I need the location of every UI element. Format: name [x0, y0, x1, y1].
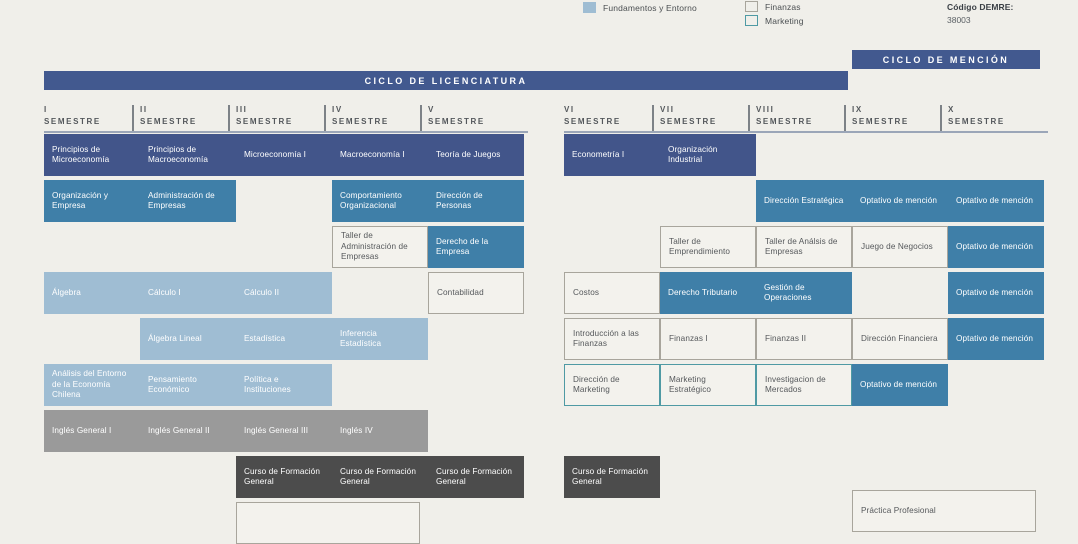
- legend-swatch-mkt-icon: [745, 15, 758, 26]
- course-label: Cálculo I: [148, 288, 181, 299]
- course-microeconomia-i[interactable]: Microeconomía I: [236, 134, 332, 176]
- semester-roman: II: [140, 104, 236, 116]
- course-optativo-de-mencion-ix-1[interactable]: Optativo de mención: [852, 180, 948, 222]
- course-direccion-financiera[interactable]: Dirección Financiera: [852, 318, 948, 360]
- course-practica-profesional[interactable]: Práctica Profesional: [852, 490, 1036, 532]
- course-algebra-lineal[interactable]: Álgebra Lineal: [140, 318, 236, 360]
- course-juego-de-negocios[interactable]: Juego de Negocios: [852, 226, 948, 268]
- semester-divider: [844, 105, 846, 131]
- course-label: Marketing Estratégico: [669, 375, 747, 396]
- semester-header-viii: VIIISEMESTRE: [756, 104, 852, 128]
- course-label: Gestión de Operaciones: [764, 283, 844, 304]
- course-label: Macroeconomía I: [340, 150, 405, 161]
- course-taller-de-analis-de-empresas[interactable]: Taller de Análsis de Empresas: [756, 226, 852, 268]
- course-label: Juego de Negocios: [861, 242, 933, 253]
- course-finanzas-i[interactable]: Finanzas I: [660, 318, 756, 360]
- course-administracion-de-empresas[interactable]: Administración de Empresas: [140, 180, 236, 222]
- course-label: Costos: [573, 288, 599, 299]
- demre-code-block: Código DEMRE:38003: [947, 2, 1013, 25]
- course-organizacion-y-empresa[interactable]: Organización y Empresa: [44, 180, 140, 222]
- course-direccion-de-marketing[interactable]: Dirección de Marketing: [564, 364, 660, 406]
- course-curso-de-formacion-general-v[interactable]: Curso de Formación General: [428, 456, 524, 498]
- course-label: Derecho de la Empresa: [436, 237, 516, 258]
- course-macroeconomia-i[interactable]: Macroeconomía I: [332, 134, 428, 176]
- semester-roman: IX: [852, 104, 948, 116]
- course-label: Administración de Empresas: [148, 191, 228, 212]
- course-label: Dirección de Marketing: [573, 375, 651, 396]
- semester-roman: VIII: [756, 104, 852, 116]
- semester-header-iii: IIISEMESTRE: [236, 104, 332, 128]
- semester-header-ix: IXSEMESTRE: [852, 104, 948, 128]
- legend-swatch-open-icon: [745, 1, 758, 12]
- course-label: Curso de Formación General: [244, 467, 324, 488]
- course-label: Principios de Macroeconomía: [148, 145, 228, 166]
- course-label: Álgebra: [52, 288, 81, 299]
- course-label: Curso de Formación General: [572, 467, 652, 488]
- course-teoria-de-juegos[interactable]: Teoría de Juegos: [428, 134, 524, 176]
- legend-item-open: Finanzas: [745, 1, 801, 12]
- course-label: Teoría de Juegos: [436, 150, 500, 161]
- semester-word: SEMESTRE: [44, 116, 140, 128]
- course-label: Optativo de mención: [956, 242, 1033, 253]
- course-contabilidad[interactable]: Contabilidad: [428, 272, 524, 314]
- cycle-banner-label: CICLO DE LICENCIATURA: [365, 76, 528, 86]
- course-label: Inglés General II: [148, 426, 210, 437]
- course-calculo-i[interactable]: Cálculo I: [140, 272, 236, 314]
- course-label: Derecho Tributario: [668, 288, 737, 299]
- semester-word: SEMESTRE: [140, 116, 236, 128]
- semester-divider: [652, 105, 654, 131]
- course-label: Optativo de mención: [956, 288, 1033, 299]
- semester-roman: V: [428, 104, 524, 116]
- semester-header-iv: IVSEMESTRE: [332, 104, 428, 128]
- course-calculo-ii[interactable]: Cálculo II: [236, 272, 332, 314]
- course-organizacion-industrial[interactable]: Organización Industrial: [660, 134, 756, 176]
- course-label: Curso de Formación General: [436, 467, 516, 488]
- course-investigacion-de-mercados[interactable]: Investigacion de Mercados: [756, 364, 852, 406]
- semester-divider: [132, 105, 134, 131]
- course-label: Taller de Emprendimiento: [669, 237, 747, 258]
- legend-item-light: Fundamentos y Entorno: [583, 2, 697, 13]
- demre-code-value: 38003: [947, 15, 1013, 25]
- course-politica-e-instituciones[interactable]: Política e Instituciones: [236, 364, 332, 406]
- legend-item-mkt: Marketing: [745, 15, 804, 26]
- course-label: Inglés General I: [52, 426, 111, 437]
- course-label: Taller de Administración de Empresas: [341, 231, 419, 263]
- course-algebra[interactable]: Álgebra: [44, 272, 140, 314]
- course-label: Principios de Microeconomía: [52, 145, 132, 166]
- course-principios-de-microeconomia[interactable]: Principios de Microeconomía: [44, 134, 140, 176]
- course-gestion-de-operaciones[interactable]: Gestión de Operaciones: [756, 272, 852, 314]
- course-marketing-estrategico[interactable]: Marketing Estratégico: [660, 364, 756, 406]
- semester-header-rule: [564, 131, 1048, 133]
- semester-word: SEMESTRE: [948, 116, 1044, 128]
- semester-roman: I: [44, 104, 140, 116]
- semester-header-x: XSEMESTRE: [948, 104, 1044, 128]
- course-estadistica[interactable]: Estadística: [236, 318, 332, 360]
- semester-word: SEMESTRE: [564, 116, 660, 128]
- course-ingles-general-ii[interactable]: Inglés General II: [140, 410, 236, 452]
- course-curso-de-formacion-general-iv[interactable]: Curso de Formación General: [332, 456, 428, 498]
- legend-label: Fundamentos y Entorno: [603, 3, 697, 13]
- course-label: Inglés IV: [340, 426, 373, 437]
- course-label: Política e Instituciones: [244, 375, 324, 396]
- course-label: Dirección Estratégica: [764, 196, 843, 207]
- semester-roman: IV: [332, 104, 428, 116]
- course-label: Organización y Empresa: [52, 191, 132, 212]
- legend-label: Marketing: [765, 16, 804, 26]
- course-ingles-iv[interactable]: Inglés IV: [332, 410, 428, 452]
- course-optativo-de-mencion-x-3[interactable]: Optativo de mención: [948, 272, 1044, 314]
- course-label: Curso de Formación General: [340, 467, 420, 488]
- semester-header-vii: VIISEMESTRE: [660, 104, 756, 128]
- course-optativo-de-mencion-x-4[interactable]: Optativo de mención: [948, 318, 1044, 360]
- course-label: Análisis del Entorno de la Economía Chil…: [52, 369, 132, 401]
- course-costos[interactable]: Costos: [564, 272, 660, 314]
- semester-divider: [324, 105, 326, 131]
- course-taller-de-administracion-de-empresas[interactable]: Taller de Administración de Empresas: [332, 226, 428, 268]
- course-comportamiento-organizacional[interactable]: Comportamiento Organizacional: [332, 180, 428, 222]
- course-derecho-de-la-empresa[interactable]: Derecho de la Empresa: [428, 226, 524, 268]
- semester-roman: VI: [564, 104, 660, 116]
- course-label: Práctica Profesional: [861, 506, 936, 517]
- course-label: Finanzas II: [765, 334, 806, 345]
- course-optativo-de-mencion-x-1[interactable]: Optativo de mención: [948, 180, 1044, 222]
- semester-divider: [228, 105, 230, 131]
- semester-header-rule: [44, 131, 528, 133]
- semester-word: SEMESTRE: [236, 116, 332, 128]
- course-label: Organización Industrial: [668, 145, 748, 166]
- course-label: Contabilidad: [437, 288, 484, 299]
- legend-label: Finanzas: [765, 2, 801, 12]
- course-label: Estadística: [244, 334, 285, 345]
- course-label: Inferencia Estadística: [340, 329, 420, 350]
- course-direccion-de-personas[interactable]: Dirección de Personas: [428, 180, 524, 222]
- course-ingles-general-i[interactable]: Inglés General I: [44, 410, 140, 452]
- course-label: Finanzas I: [669, 334, 708, 345]
- semester-header-vi: VISEMESTRE: [564, 104, 660, 128]
- course-course-bottom-cutoff[interactable]: [236, 502, 420, 544]
- course-label: Dirección de Personas: [436, 191, 516, 212]
- semester-roman: III: [236, 104, 332, 116]
- semester-divider: [940, 105, 942, 131]
- legend-swatch-light-icon: [583, 2, 596, 13]
- course-optativo-de-mencion-x-2[interactable]: Optativo de mención: [948, 226, 1044, 268]
- course-introduccion-a-las-finanzas[interactable]: Introducción a las Finanzas: [564, 318, 660, 360]
- course-label: Dirección Financiera: [861, 334, 938, 345]
- course-optativo-de-mencion-ix-2[interactable]: Optativo de mención: [852, 364, 948, 406]
- semester-divider: [420, 105, 422, 131]
- course-label: Optativo de mención: [860, 196, 937, 207]
- course-label: Taller de Análsis de Empresas: [765, 237, 843, 258]
- course-label: Investigacion de Mercados: [765, 375, 843, 396]
- course-direccion-estrategica[interactable]: Dirección Estratégica: [756, 180, 852, 222]
- semester-word: SEMESTRE: [660, 116, 756, 128]
- course-inferencia-estadistica[interactable]: Inferencia Estadística: [332, 318, 428, 360]
- semester-word: SEMESTRE: [852, 116, 948, 128]
- course-ingles-general-iii[interactable]: Inglés General III: [236, 410, 332, 452]
- cycle-banner-mencion: CICLO DE MENCIÓN: [852, 50, 1040, 69]
- course-label: Optativo de mención: [956, 196, 1033, 207]
- course-econometria-i[interactable]: Econometría I: [564, 134, 660, 176]
- semester-header-i: ISEMESTRE: [44, 104, 140, 128]
- semester-header-ii: IISEMESTRE: [140, 104, 236, 128]
- course-label: Pensamiento Económico: [148, 375, 228, 396]
- semester-word: SEMESTRE: [332, 116, 428, 128]
- course-pensamiento-economico[interactable]: Pensamiento Económico: [140, 364, 236, 406]
- semester-divider: [748, 105, 750, 131]
- course-principios-de-macroeconomia[interactable]: Principios de Macroeconomía: [140, 134, 236, 176]
- semester-roman: VII: [660, 104, 756, 116]
- course-curso-de-formacion-general-vi[interactable]: Curso de Formación General: [564, 456, 660, 498]
- course-label: Optativo de mención: [860, 380, 937, 391]
- semester-header-v: VSEMESTRE: [428, 104, 524, 128]
- semester-word: SEMESTRE: [756, 116, 852, 128]
- course-label: Optativo de mención: [956, 334, 1033, 345]
- course-label: Introducción a las Finanzas: [573, 329, 651, 350]
- course-label: Cálculo II: [244, 288, 279, 299]
- cycle-banner-licenciatura: CICLO DE LICENCIATURA: [44, 71, 848, 90]
- course-curso-de-formacion-general-iii[interactable]: Curso de Formación General: [236, 456, 332, 498]
- semester-word: SEMESTRE: [428, 116, 524, 128]
- course-label: Álgebra Lineal: [148, 334, 202, 345]
- demre-title: Código DEMRE:: [947, 2, 1013, 12]
- course-label: Econometría I: [572, 150, 624, 161]
- course-derecho-tributario[interactable]: Derecho Tributario: [660, 272, 756, 314]
- cycle-banner-label: CICLO DE MENCIÓN: [883, 55, 1009, 65]
- course-analisis-del-entorno-de-la-economia-chilena[interactable]: Análisis del Entorno de la Economía Chil…: [44, 364, 140, 406]
- course-finanzas-ii[interactable]: Finanzas II: [756, 318, 852, 360]
- course-label: Microeconomía I: [244, 150, 306, 161]
- course-label: Comportamiento Organizacional: [340, 191, 420, 212]
- course-taller-de-emprendimiento[interactable]: Taller de Emprendimiento: [660, 226, 756, 268]
- malla-curricular-canvas: Fundamentos y EntornoFinanzasMarketingCó…: [0, 0, 1078, 516]
- semester-roman: X: [948, 104, 1044, 116]
- course-label: Inglés General III: [244, 426, 308, 437]
